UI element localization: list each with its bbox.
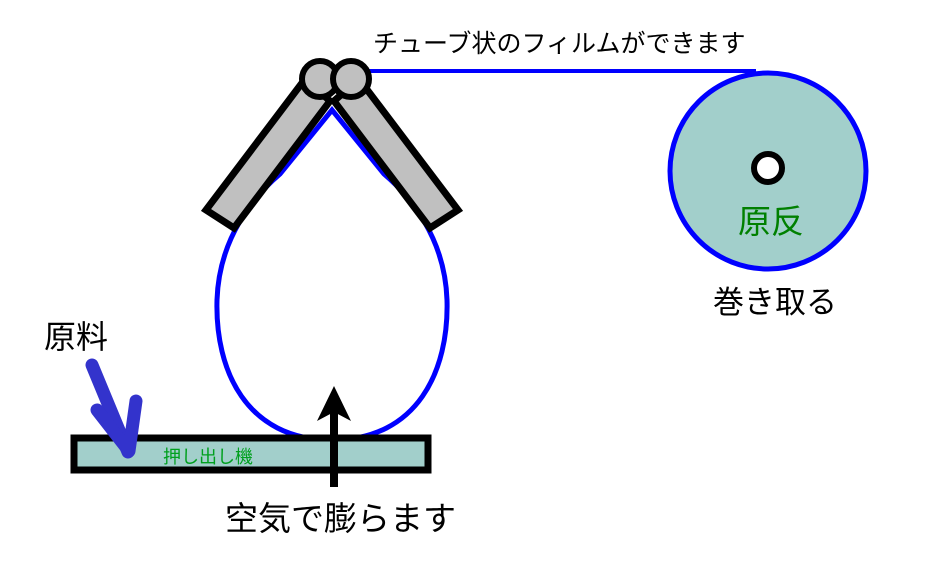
label-roll-core: 原反 [738, 202, 804, 241]
collapsing-plate-right [334, 79, 458, 228]
nip-roller-right [333, 61, 369, 97]
label-wind-up: 巻き取る [713, 285, 837, 321]
label-extruder: 押し出し機 [163, 447, 253, 468]
collapsing-plate-left [206, 79, 330, 228]
roll-core-hole [754, 154, 782, 182]
label-tube-film: チューブ状のフィルムができます [373, 29, 746, 58]
label-raw-material: 原料 [44, 318, 108, 356]
blown-film-extrusion-diagram: チューブ状のフィルムができます 原料 押し出し機 空気で膨らます 原反 巻き取る [0, 0, 931, 570]
diagram-canvas: チューブ状のフィルムができます 原料 押し出し機 空気で膨らます 原反 巻き取る [0, 0, 931, 570]
label-air-inflate: 空気で膨らます [225, 499, 456, 538]
